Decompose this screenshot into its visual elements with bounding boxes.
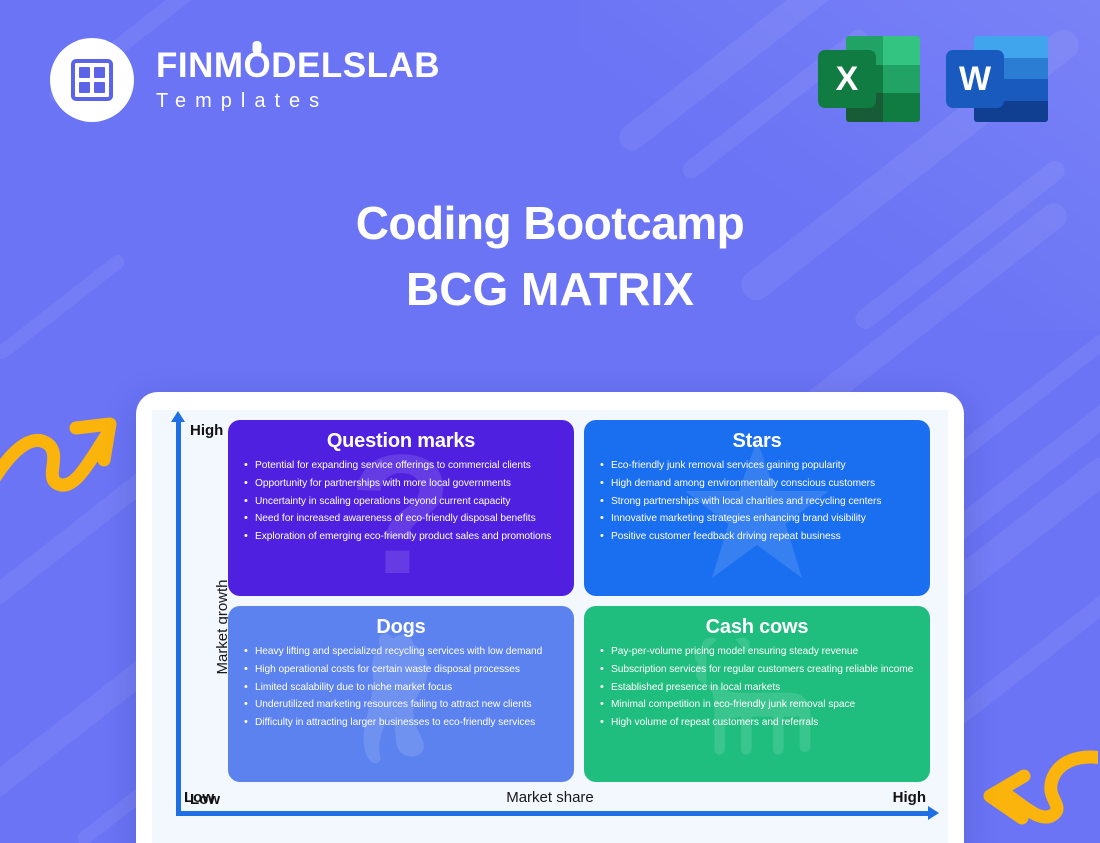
- brand-text: FINMODELSLAB Templates: [156, 47, 440, 112]
- squiggly-arrow-down-left-icon: [966, 736, 1098, 830]
- word-icon[interactable]: W: [946, 30, 1048, 122]
- excel-letter: X: [818, 50, 876, 108]
- x-axis-label: Market share: [152, 789, 948, 806]
- word-letter: W: [946, 50, 1004, 108]
- brand-logo[interactable]: FINMODELSLAB Templates: [50, 38, 440, 122]
- list-item: High operational costs for certain waste…: [242, 664, 560, 677]
- quadrant-bullet-list: Potential for expanding service offering…: [242, 460, 560, 544]
- list-item: High volume of repeat customers and refe…: [598, 717, 916, 730]
- grid-logo-icon: [50, 38, 134, 122]
- list-item: Innovative marketing strategies enhancin…: [598, 513, 916, 526]
- excel-icon[interactable]: X: [818, 30, 920, 122]
- quadrant-grid: ? Question marks Potential for expanding…: [228, 420, 930, 782]
- page-header: FINMODELSLAB Templates X W: [0, 0, 1100, 150]
- list-item: Difficulty in attracting larger business…: [242, 717, 560, 730]
- list-item: Need for increased awareness of eco-frie…: [242, 513, 560, 526]
- list-item: Opportunity for partnerships with more l…: [242, 478, 560, 491]
- list-item: Pay-per-volume pricing model ensuring st…: [598, 646, 916, 659]
- list-item: Potential for expanding service offering…: [242, 460, 560, 473]
- y-axis-arrow: [176, 420, 181, 814]
- quadrant-bullet-list: Eco-friendly junk removal services gaini…: [598, 460, 916, 544]
- quadrant-title: Stars: [598, 430, 916, 453]
- list-item: Minimal competition in eco-friendly junk…: [598, 699, 916, 712]
- office-format-icons: X W: [818, 30, 1048, 122]
- list-item: Subscription services for regular custom…: [598, 664, 916, 677]
- quadrant-question-marks[interactable]: ? Question marks Potential for expanding…: [228, 420, 574, 596]
- list-item: Heavy lifting and specialized recycling …: [242, 646, 560, 659]
- list-item: Positive customer feedback driving repea…: [598, 531, 916, 544]
- quadrant-bullet-list: Pay-per-volume pricing model ensuring st…: [598, 646, 916, 730]
- quadrant-bullet-list: Heavy lifting and specialized recycling …: [242, 646, 560, 730]
- bcg-matrix-plot: High Low Market growth Low High Market s…: [152, 410, 948, 843]
- list-item: Strong partnerships with local charities…: [598, 496, 916, 509]
- y-axis-label-wrap: Market growth: [196, 410, 218, 843]
- quadrant-title: Cash cows: [598, 616, 916, 639]
- title-line-2: BCG MATRIX: [0, 262, 1100, 316]
- bcg-matrix-card: High Low Market growth Low High Market s…: [136, 392, 964, 843]
- list-item: High demand among environmentally consci…: [598, 478, 916, 491]
- quadrant-dogs[interactable]: Dogs Heavy lifting and specialized recyc…: [228, 606, 574, 782]
- list-item: Underutilized marketing resources failin…: [242, 699, 560, 712]
- squiggly-arrow-up-right-icon: [0, 408, 122, 500]
- list-item: Exploration of emerging eco-friendly pro…: [242, 531, 560, 544]
- list-item: Limited scalability due to niche market …: [242, 682, 560, 695]
- brand-name: FINMODELSLAB: [156, 47, 440, 84]
- title-line-1: Coding Bootcamp: [0, 196, 1100, 250]
- brand-subtitle: Templates: [156, 90, 440, 113]
- quadrant-title: Question marks: [242, 430, 560, 453]
- quadrant-stars[interactable]: Stars Eco-friendly junk removal services…: [584, 420, 930, 596]
- list-item: Established presence in local markets: [598, 682, 916, 695]
- list-item: Uncertainty in scaling operations beyond…: [242, 496, 560, 509]
- x-axis-arrow: [176, 811, 930, 816]
- quadrant-title: Dogs: [242, 616, 560, 639]
- page-title: Coding Bootcamp BCG MATRIX: [0, 196, 1100, 317]
- list-item: Eco-friendly junk removal services gaini…: [598, 460, 916, 473]
- quadrant-cash-cows[interactable]: Cash cows Pay-per-volume pricing model e…: [584, 606, 930, 782]
